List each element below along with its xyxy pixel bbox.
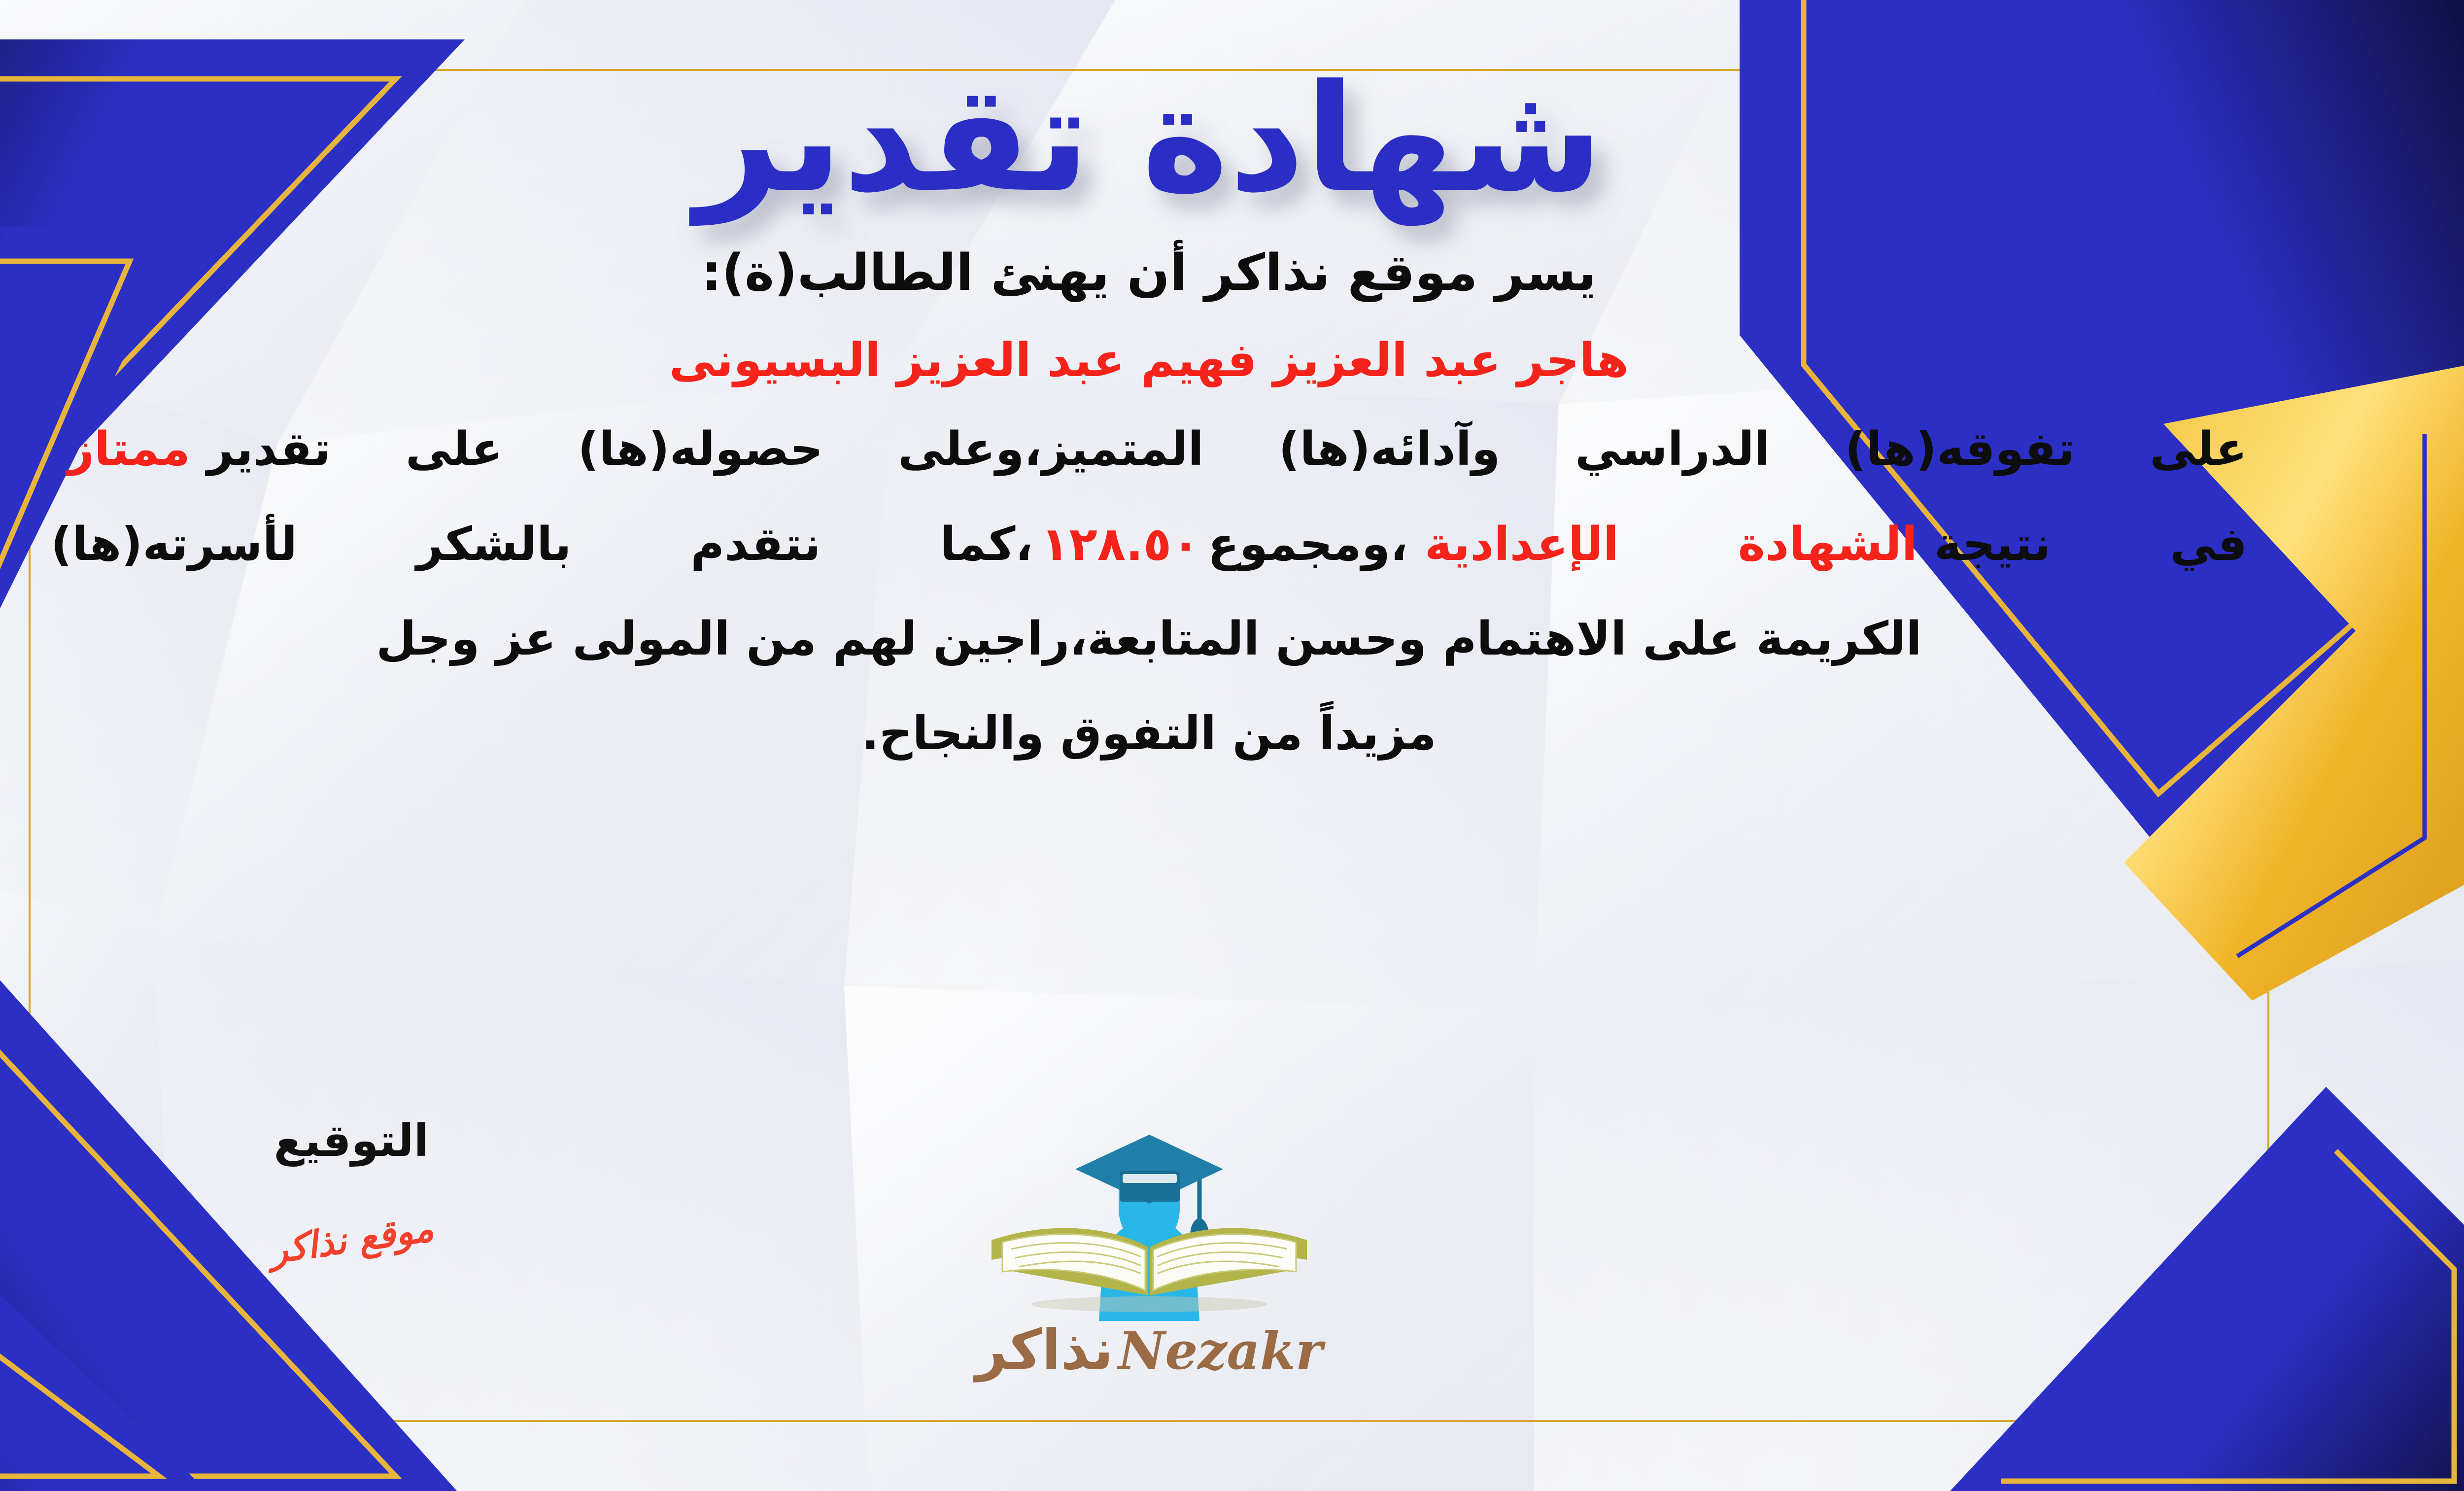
- exam-paragraph: في نتيجةالشهادة الإعدادية،ومجموع١٢٨.٥٠،ك…: [51, 511, 2247, 578]
- certificate-content: شهادة تقدير يسر موقع نذاكر أن يهنئ الطال…: [0, 0, 2464, 767]
- thanks-paragraph: الكريمة على الاهتمام وحسن المتابعة،راجين…: [51, 606, 2247, 673]
- certificate-canvas: شهادة تقدير يسر موقع نذاكر أن يهنئ الطال…: [0, 0, 2464, 1491]
- grade-value: ممتاز: [51, 422, 207, 476]
- student-name: هاجر عبد العزيز فهيم عبد العزيز البسيونى: [51, 333, 2247, 389]
- footer-band: التوقيع موقع نذاكر: [0, 1119, 2464, 1434]
- certificate-title-text: شهادة تقدير: [688, 53, 1603, 227]
- achievement-paragraph: على تفوقه(ها) الدراسي وآدائه(ها) المتميز…: [51, 416, 2247, 483]
- logo-wordmark: Nezakr نذاكر: [975, 1318, 1322, 1382]
- exam-name: الشهادة الإعدادية: [1408, 518, 1934, 571]
- total-score: ١٢٨.٥٠: [1033, 518, 1208, 571]
- exam-text-right: في نتيجة: [1934, 518, 2247, 571]
- logo-latin-text: Nezakr: [1118, 1320, 1323, 1381]
- logo-arabic-text: نذاكر: [975, 1318, 1113, 1382]
- achievement-text-right: على تفوقه(ها) الدراسي وآدائه(ها) المتميز…: [207, 422, 2247, 476]
- exam-text-left: ،كما نتقدم بالشكر لأسرته(ها): [51, 518, 1033, 571]
- exam-text-mid: ،ومجموع: [1208, 518, 1408, 571]
- site-logo: Nezakr نذاكر: [0, 1124, 2464, 1382]
- closing-paragraph: مزيداً من التفوق والنجاح.: [51, 700, 2247, 767]
- graduate-book-icon: [977, 1124, 1322, 1321]
- certificate-title: شهادة تقدير: [51, 0, 2247, 207]
- intro-line: يسر موقع نذاكر أن يهنئ الطالب(ة):: [51, 242, 2247, 305]
